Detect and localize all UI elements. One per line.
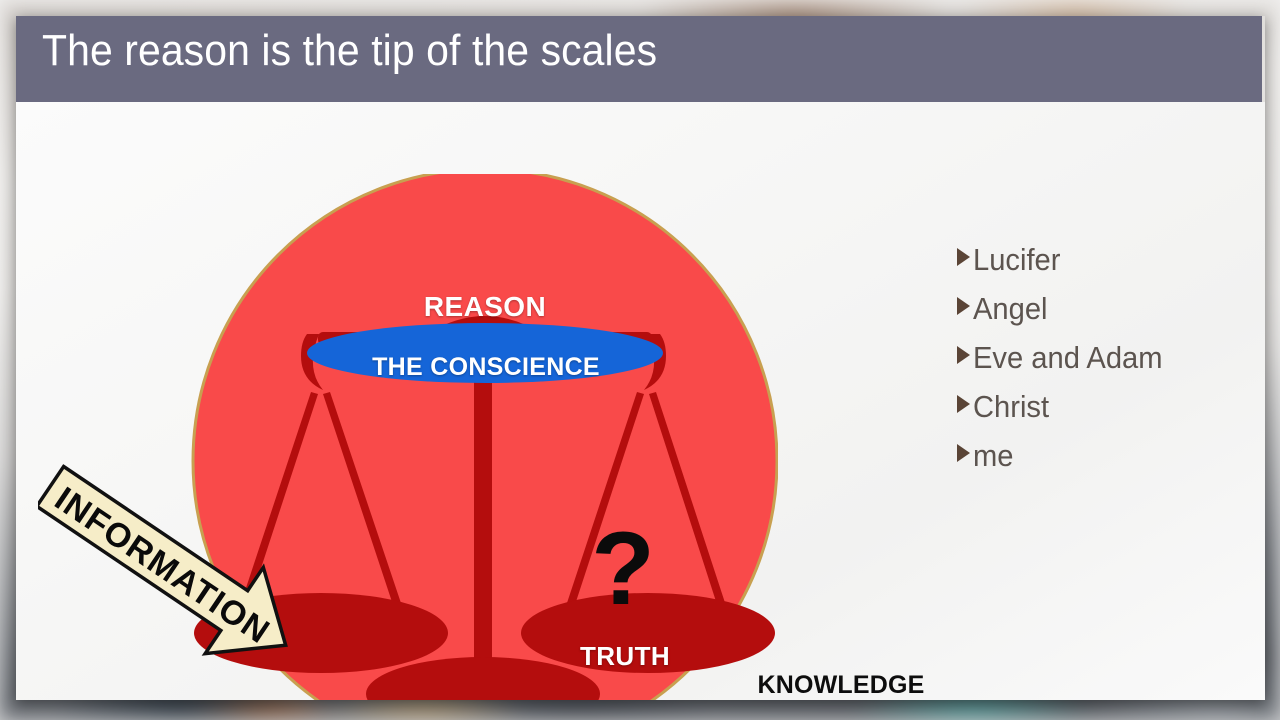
label-reason: REASON — [381, 291, 589, 323]
list-item-christ[interactable]: Christ — [957, 389, 1257, 438]
list-item-lucifer[interactable]: Lucifer — [957, 242, 1257, 291]
triangle-bullet-icon — [957, 346, 970, 364]
triangle-bullet-icon — [957, 395, 970, 413]
label-truth: TRUTH — [525, 641, 725, 672]
presentation-slide: The reason is the tip of the scales — [16, 16, 1265, 700]
question-mark-glyph: ? — [586, 517, 660, 621]
list-item-label: Angel — [973, 291, 1048, 327]
list-item-label: Christ — [973, 389, 1049, 425]
list-item-label: Lucifer — [973, 242, 1060, 278]
list-item-me[interactable]: me — [957, 438, 1257, 487]
list-item-label: Eve and Adam — [973, 340, 1163, 376]
triangle-bullet-icon — [957, 248, 970, 266]
triangle-bullet-icon — [957, 297, 970, 315]
slide-content-area: REASON THE CONSCIENCE ? TRUTH INFORMATIO… — [16, 102, 1265, 700]
label-the-conscience: THE CONSCIENCE — [336, 353, 636, 382]
slide-title-bar: The reason is the tip of the scales — [16, 16, 1262, 102]
information-arrow-svg: INFORMATION — [38, 460, 368, 680]
triangle-bullet-icon — [957, 444, 970, 462]
bullet-list: Lucifer Angel Eve and Adam Christ me — [957, 242, 1257, 487]
list-item-angel[interactable]: Angel — [957, 291, 1257, 340]
scale-center-post — [474, 334, 492, 694]
caption-line-1: KNOWLEDGE — [721, 668, 961, 700]
page-title: The reason is the tip of the scales — [42, 26, 657, 76]
list-item-eve-and-adam[interactable]: Eve and Adam — [957, 340, 1257, 389]
arrow-label: INFORMATION — [48, 480, 277, 652]
information-arrow: INFORMATION — [38, 460, 368, 680]
knowledge-of-the-law-caption: KNOWLEDGE OF THE LAW — [721, 668, 961, 700]
list-item-label: me — [973, 438, 1013, 474]
